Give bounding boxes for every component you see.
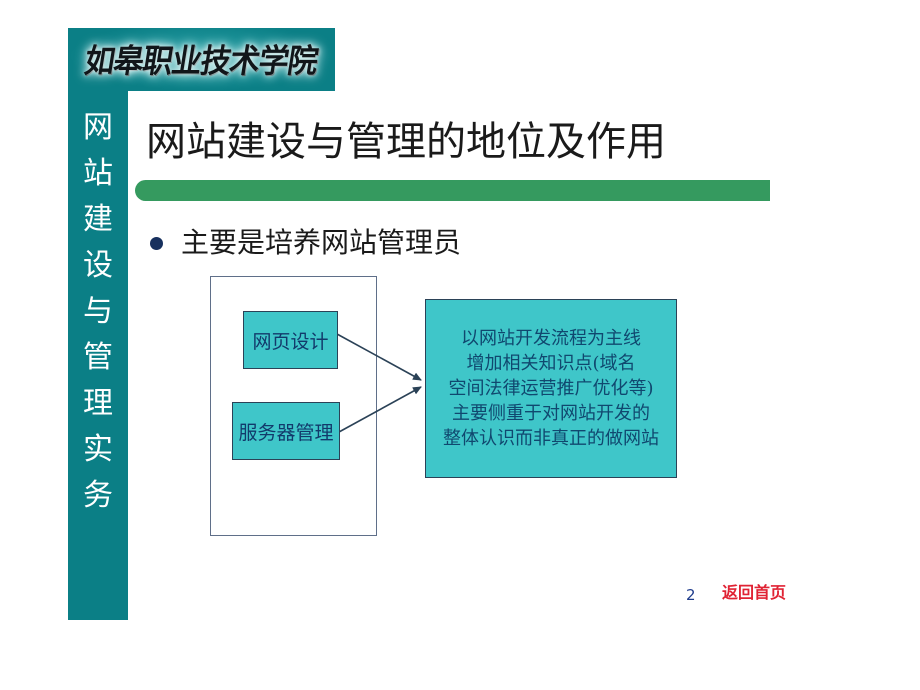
diagram-group-frame [210,276,377,536]
bullet-list-item: 主要是培养网站管理员 [150,223,461,263]
description-line-1: 以网站开发流程为主线 [461,326,641,351]
institution-logo-band: 如皋职业技术学院 [68,28,335,91]
slide-canvas: 如皋职业技术学院 网 站 建 设 与 管 理 实 务 网站建设与管理的地位及作用… [0,0,920,690]
description-line-4: 主要侧重于对网站开发的 [452,401,650,426]
back-to-home-link[interactable]: 返回首页 [722,583,786,603]
institution-logo-text: 如皋职业技术学院 [72,32,331,84]
description-line-3: 空间法律运营推广优化等) [448,376,653,401]
bullet-dot-icon [150,237,163,250]
description-line-5: 整体认识而非真正的做网站 [443,426,659,451]
description-line-2: 增加相关知识点(域名 [466,351,635,376]
sidebar-vertical-title: 网 站 建 设 与 管 理 实 务 [68,105,128,519]
arrow-server-to-description [339,387,421,432]
arrow-design-to-description [337,334,421,380]
page-number: 2 [686,586,696,604]
diagram-box-web-design: 网页设计 [243,311,338,369]
page-title: 网站建设与管理的地位及作用 [146,113,776,171]
title-underline-bar [135,180,770,201]
diagram-box-description: 以网站开发流程为主线 增加相关知识点(域名 空间法律运营推广优化等) 主要侧重于… [425,299,677,478]
diagram-box-server-management: 服务器管理 [232,402,340,460]
bullet-item-label: 主要是培养网站管理员 [181,223,461,263]
course-sidebar: 网 站 建 设 与 管 理 实 务 [68,91,128,620]
